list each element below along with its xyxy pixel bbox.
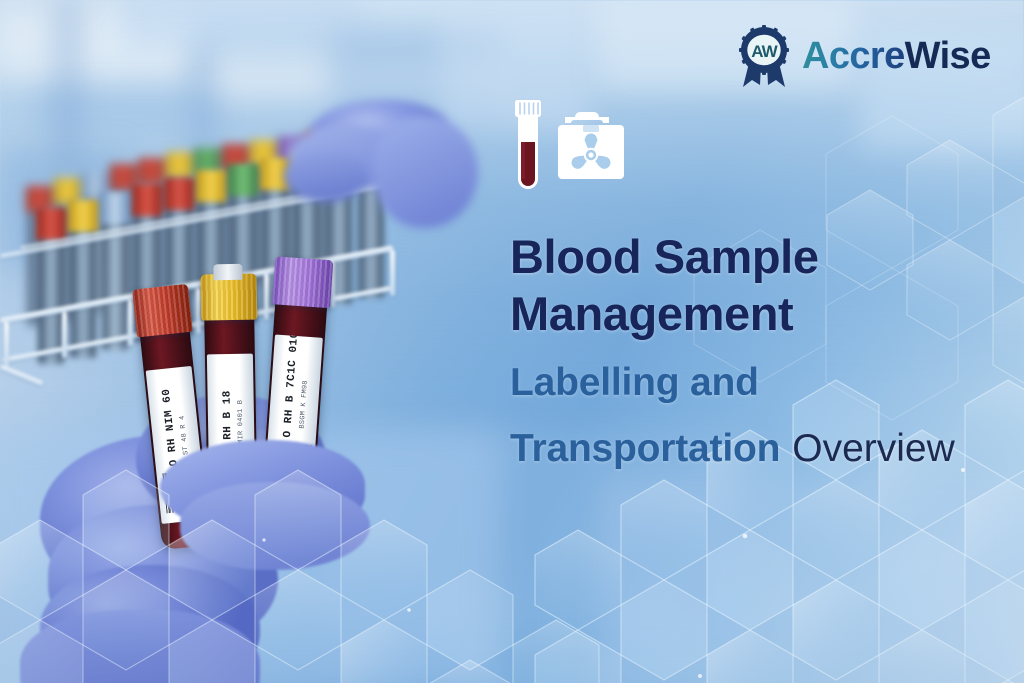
subtitle-transportation: Transportation [510, 427, 780, 470]
blood-tube-icon-shape [515, 100, 541, 189]
subtitle-line-1: Labelling and [510, 354, 1010, 420]
yellow-tube-stopper [213, 264, 242, 281]
title-block: Blood Sample Management Labelling and Tr… [510, 228, 1010, 486]
blood-sample-photo: O RH B 7C1C 0101 02 BSGM K FM98 O RH B 1… [0, 0, 470, 683]
accrewise-wordmark: AccreWise [802, 36, 991, 76]
glove-thumb [160, 430, 370, 570]
red-tube-cap [132, 284, 193, 338]
wordmark-wise: Wise [905, 35, 991, 77]
subtitle-overview: Overview [792, 427, 955, 470]
purple-tube-cap [272, 256, 333, 308]
subtitle-labelling: Labelling and [510, 361, 759, 404]
purple-tube-label-sub: BSGM K FM98 [299, 380, 310, 429]
svg-text:AW: AW [751, 42, 778, 61]
yellow-tube-cap [200, 274, 257, 321]
title-line-1: Blood Sample [510, 228, 1010, 285]
accrewise-logo[interactable]: AW AccreWise [735, 25, 997, 87]
accrewise-badge-icon: AW [735, 25, 793, 87]
medical-case-icon-shape [558, 112, 624, 179]
subtitle-line-2: TransportationOverview [510, 420, 1010, 486]
gloved-hand-upper [288, 100, 478, 240]
title-line-2: Management [510, 285, 1010, 342]
header-icon-group [503, 98, 633, 190]
wordmark-accre: Accre [802, 35, 905, 77]
banner-root: O RH B 7C1C 0101 02 BSGM K FM98 O RH B 1… [0, 0, 1024, 683]
